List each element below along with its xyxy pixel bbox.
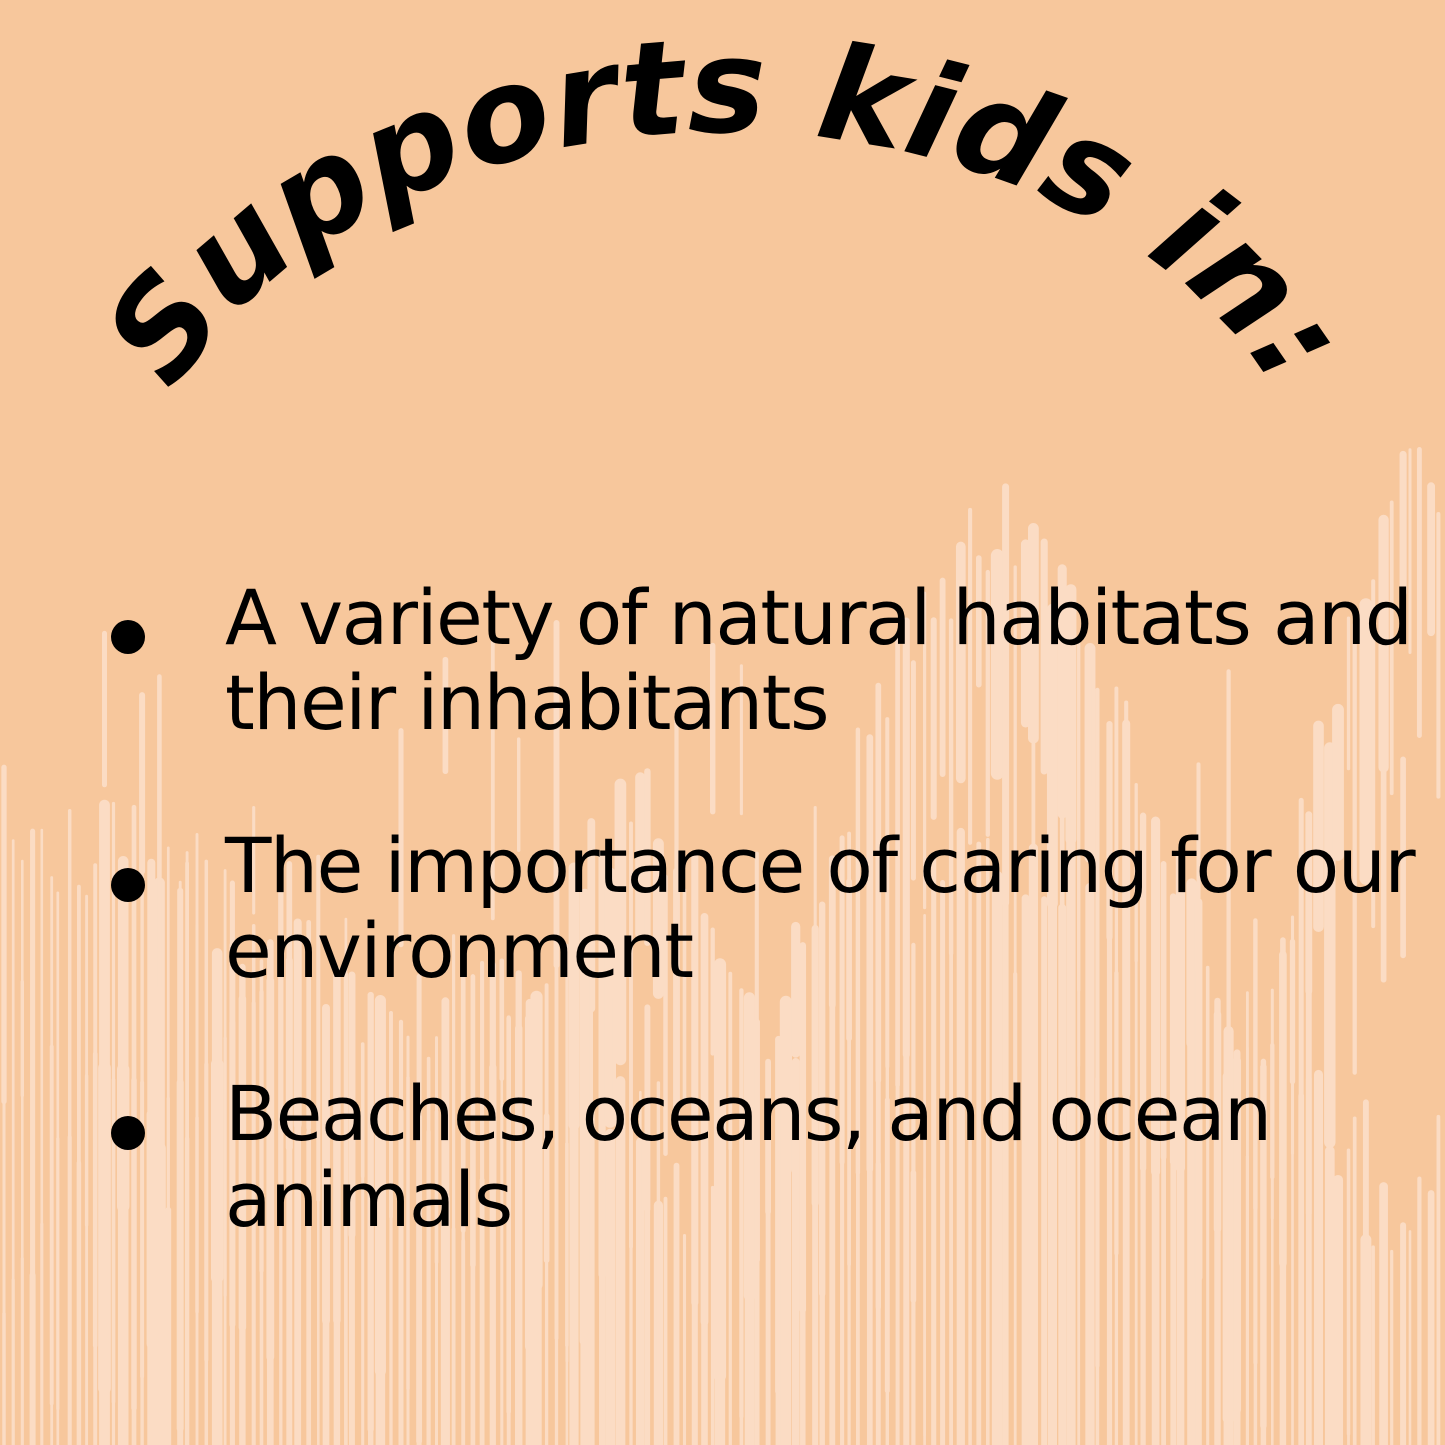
headline-text: Supports kids in: [74, 10, 1378, 411]
list-item-label: The importance of caring for our environ… [225, 823, 1445, 993]
list-item-label: A variety of natural habitats and their … [225, 575, 1445, 745]
bullet-dot-icon [111, 1116, 145, 1150]
promo-card: Supports kids in: A variety of natural h… [0, 0, 1445, 1445]
list-item: A variety of natural habitats and their … [0, 575, 1445, 745]
list-item: The importance of caring for our environ… [0, 823, 1445, 993]
bullet-marker-cell [0, 823, 225, 902]
list-item-label: Beaches, oceans, and ocean animals [225, 1071, 1445, 1241]
bullet-dot-icon [111, 868, 145, 902]
bullet-dot-icon [111, 620, 145, 654]
bullet-marker-cell [0, 1071, 225, 1150]
list-item: Beaches, oceans, and ocean animals [0, 1071, 1445, 1241]
bullet-list: A variety of natural habitats and their … [0, 575, 1445, 1320]
bullet-marker-cell [0, 575, 225, 654]
headline-container: Supports kids in: [0, 60, 1445, 390]
